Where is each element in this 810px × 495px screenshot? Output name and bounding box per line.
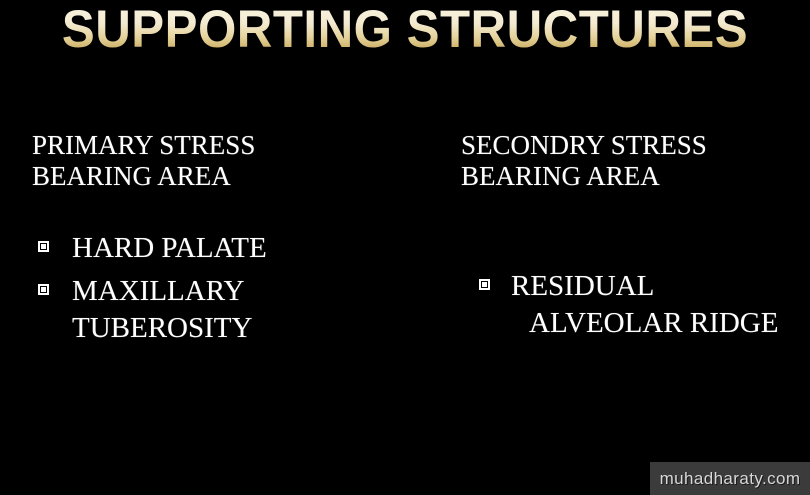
list-item-label: HARD PALATE	[72, 230, 267, 267]
page-title: SUPPORTING STRUCTURES	[28, 2, 781, 58]
filled-square-bullet-icon	[479, 279, 490, 290]
list-item-label: RESIDUALALVEOLAR RIDGE	[511, 268, 778, 342]
watermark-band: muhadharaty.com	[650, 462, 810, 495]
column-header-secondary: SECONDRY STRESS BEARING AREA	[461, 130, 801, 192]
filled-square-bullet-icon	[38, 284, 49, 295]
column-primary-stress: PRIMARY STRESS BEARING AREA HARD PALATE …	[32, 130, 432, 353]
column-secondary-stress: SECONDRY STRESS BEARING AREA RESIDUALALV…	[461, 130, 801, 342]
list-item-line-2: ALVEOLAR RIDGE	[511, 305, 778, 342]
watermark-label: muhadharaty.com	[660, 469, 801, 489]
list-item: RESIDUALALVEOLAR RIDGE	[461, 268, 801, 342]
filled-square-bullet-icon	[38, 241, 49, 252]
list-item-label: MAXILLARY TUBEROSITY	[72, 273, 252, 347]
bullet-list-secondary: RESIDUALALVEOLAR RIDGE	[461, 268, 801, 342]
list-item: MAXILLARY TUBEROSITY	[32, 273, 432, 347]
bullet-list-primary: HARD PALATE MAXILLARY TUBEROSITY	[32, 230, 432, 347]
column-header-primary: PRIMARY STRESS BEARING AREA	[32, 130, 432, 192]
slide-canvas: SUPPORTING STRUCTURES PRIMARY STRESS BEA…	[0, 0, 810, 495]
list-item-line-1: RESIDUAL	[511, 270, 654, 302]
list-item: HARD PALATE	[32, 230, 432, 267]
